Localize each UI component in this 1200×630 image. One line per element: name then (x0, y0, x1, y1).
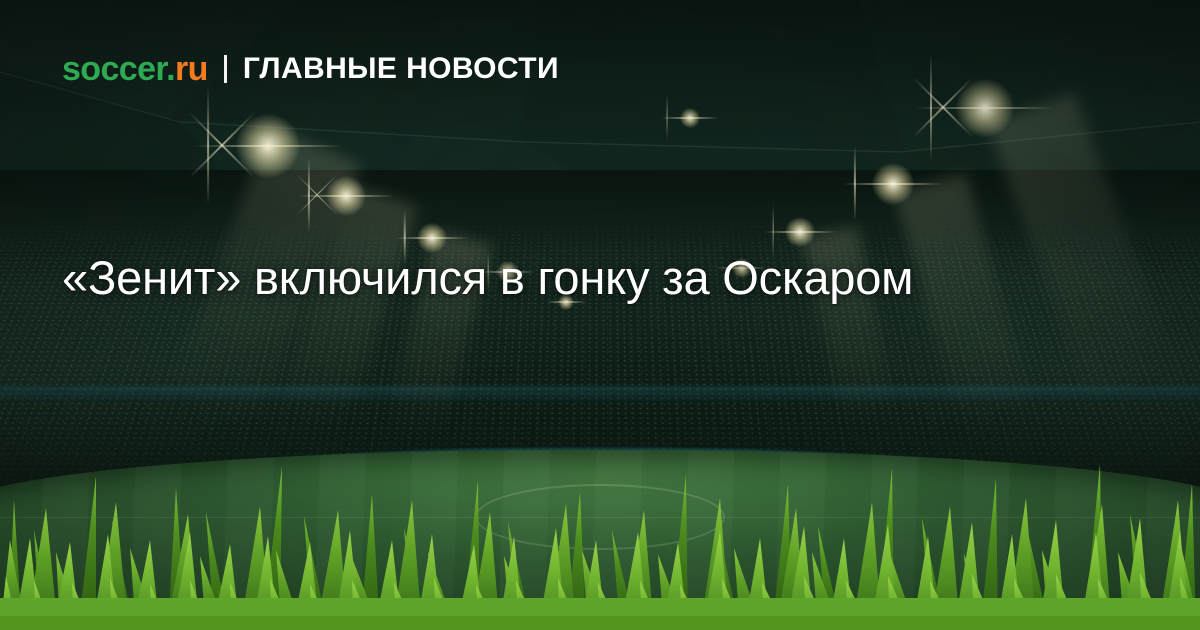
stadium-background-image (0, 0, 1200, 630)
site-logo[interactable]: soccer.ru (62, 52, 208, 86)
logo-tld: ru (175, 50, 208, 88)
header-divider (224, 55, 227, 83)
foreground-grass (0, 380, 1200, 630)
page-title: «Зенит» включился в гонку за Оскаром (62, 248, 962, 307)
site-header: soccer.ru ГЛАВНЫЕ НОВОСТИ (62, 52, 559, 86)
logo-dot: . (166, 50, 175, 88)
news-share-card: soccer.ru ГЛАВНЫЕ НОВОСТИ «Зенит» включи… (0, 0, 1200, 630)
logo-name: soccer (62, 50, 166, 88)
section-kicker: ГЛАВНЫЕ НОВОСТИ (243, 54, 559, 84)
